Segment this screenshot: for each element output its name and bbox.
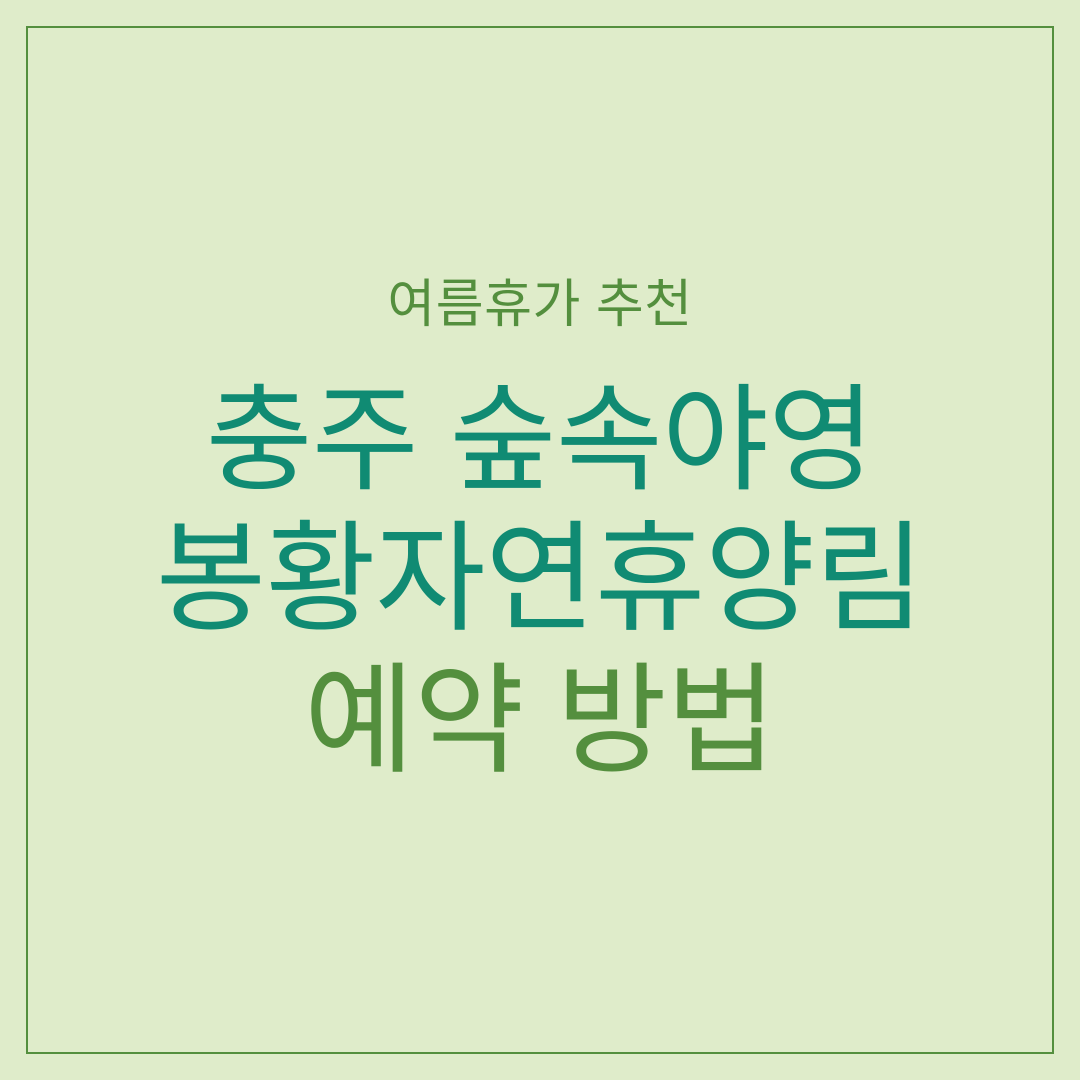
headline-line-2: 봉황자연휴양림	[0, 509, 1080, 651]
title-block: 여름휴가 추천 충주 숲속야영 봉황자연휴양림 예약 방법	[0, 276, 1080, 804]
headline-line-1: 충주 숲속야영	[0, 372, 1080, 509]
headline-line-3: 예약 방법	[0, 651, 1080, 793]
page-title: 충주 숲속야영 봉황자연휴양림 예약 방법	[0, 372, 1080, 792]
poster-canvas: 여름휴가 추천 충주 숲속야영 봉황자연휴양림 예약 방법	[0, 0, 1080, 1080]
eyebrow-label: 여름휴가 추천	[0, 276, 1080, 334]
